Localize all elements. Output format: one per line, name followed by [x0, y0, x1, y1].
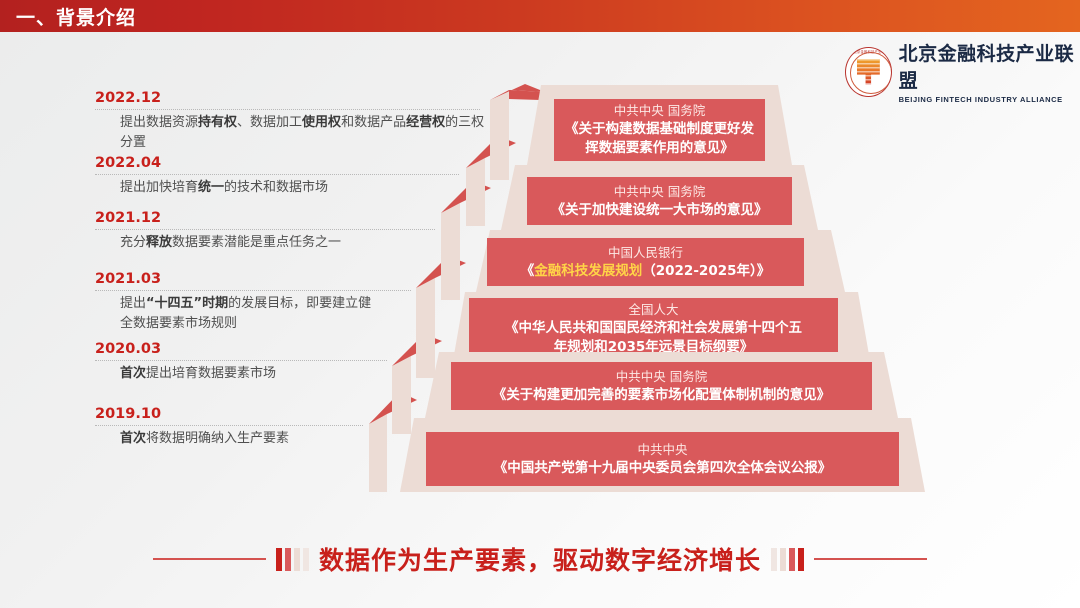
timeline-desc: 提出“十四五”时期的发展目标，即要建立健全数据要素市场规则 — [120, 294, 380, 334]
banner-bar — [780, 548, 786, 571]
timeline-divider — [95, 290, 411, 291]
tier-doc: 《中国共产党第十九届中央委员会第四次全体会议公报》 — [494, 459, 832, 478]
banner-bar — [771, 548, 777, 571]
timeline-desc: 充分释放数据要素潜能是重点任务之一 — [120, 233, 443, 253]
timeline-divider — [95, 229, 435, 230]
timeline-item[interactable]: 2021.12 充分释放数据要素潜能是重点任务之一 — [95, 210, 443, 253]
banner-bars-right — [771, 548, 804, 571]
timeline-desc: 提出加快培育统一的技术和数据市场 — [120, 178, 465, 198]
tier-slab: 中共中央 国务院 《关于构建更加完善的要素市场化配置体制机制的意见》 — [451, 362, 872, 410]
banner-bar — [789, 548, 795, 571]
tier-org: 中共中央 国务院 — [614, 183, 705, 201]
timeline-date: 2022.04 — [95, 155, 465, 172]
tier-doc: 《关于加快建设统一大市场的意见》 — [552, 201, 768, 220]
tier-doc: 《金融科技发展规划（2022-2025年）》 — [521, 262, 771, 281]
tier-slab: 全国人大 《中华人民共和国国民经济和社会发展第十四个五年规划和2035年远景目标… — [469, 298, 838, 360]
tier-org: 中国人民银行 — [608, 244, 683, 262]
tier-slab: 中共中央 国务院 《关于构建数据基础制度更好发挥数据要素作用的意见》 — [554, 99, 765, 161]
pyramid-tier-5[interactable]: 中共中央 国务院 《关于构建更加完善的要素市场化配置体制机制的意见》 — [425, 352, 898, 418]
banner-bar — [276, 548, 282, 571]
pyramid-tier-1[interactable]: 中共中央 国务院 《关于构建数据基础制度更好发挥数据要素作用的意见》 — [527, 85, 792, 165]
timeline-date: 2022.12 — [95, 90, 485, 107]
banner-rule-right — [814, 558, 927, 560]
timeline-divider — [95, 174, 459, 175]
slide-canvas: 一、背景介绍 北京金融科技产业联盟 北京金融科技产业联盟 BEIJING FIN… — [0, 0, 1080, 608]
banner-bar — [303, 548, 309, 571]
banner-bar — [285, 548, 291, 571]
tier-org: 中共中央 国务院 — [616, 368, 707, 386]
timeline-item[interactable]: 2022.04 提出加快培育统一的技术和数据市场 — [95, 155, 465, 198]
pyramid-tier-2[interactable]: 中共中央 国务院 《关于加快建设统一大市场的意见》 — [501, 165, 818, 230]
timeline-desc: 首次提出培育数据要素市场 — [120, 364, 393, 384]
tier-slab: 中共中央 《中国共产党第十九届中央委员会第四次全体会议公报》 — [426, 432, 899, 486]
timeline-divider — [95, 360, 387, 361]
tier-slab: 中共中央 国务院 《关于加快建设统一大市场的意见》 — [527, 177, 792, 225]
timeline-item[interactable]: 2019.10 首次将数据明确纳入生产要素 — [95, 406, 370, 449]
tier-slab: 中国人民银行 《金融科技发展规划（2022-2025年）》 — [487, 238, 804, 286]
timeline-item[interactable]: 2021.03 提出“十四五”时期的发展目标，即要建立健全数据要素市场规则 — [95, 271, 417, 334]
tier-doc: 《关于构建数据基础制度更好发挥数据要素作用的意见》 — [565, 120, 754, 158]
timeline-date: 2019.10 — [95, 406, 370, 423]
tier-org: 中共中央 — [637, 441, 687, 459]
timeline-divider — [95, 425, 363, 426]
pyramid-tier-6[interactable]: 中共中央 《中国共产党第十九届中央委员会第四次全体会议公报》 — [400, 418, 925, 492]
timeline-desc: 提出数据资源持有权、数据加工使用权和数据产品经营权的三权分置 — [120, 113, 485, 153]
timeline-date: 2021.12 — [95, 210, 443, 227]
banner-rule-left — [153, 558, 266, 560]
banner-text: 数据作为生产要素，驱动数字经济增长 — [319, 541, 761, 577]
tier-org: 中共中央 国务院 — [614, 102, 705, 120]
timeline-divider — [95, 109, 480, 110]
timeline-date: 2021.03 — [95, 271, 417, 288]
banner-bar — [798, 548, 804, 571]
timeline-desc: 首次将数据明确纳入生产要素 — [120, 429, 370, 449]
bottom-banner: 数据作为生产要素，驱动数字经济增长 — [0, 536, 1080, 582]
timeline-item[interactable]: 2022.12 提出数据资源持有权、数据加工使用权和数据产品经营权的三权分置 — [95, 90, 485, 153]
tier-doc: 《关于构建更加完善的要素市场化配置体制机制的意见》 — [493, 386, 831, 405]
tier-org: 全国人大 — [628, 301, 678, 319]
timeline-date: 2020.03 — [95, 341, 393, 358]
banner-bar — [294, 548, 300, 571]
pyramid-tier-3[interactable]: 中国人民银行 《金融科技发展规划（2022-2025年）》 — [476, 230, 845, 292]
banner-bars-left — [276, 548, 309, 571]
timeline-item[interactable]: 2020.03 首次提出培育数据要素市场 — [95, 341, 393, 384]
